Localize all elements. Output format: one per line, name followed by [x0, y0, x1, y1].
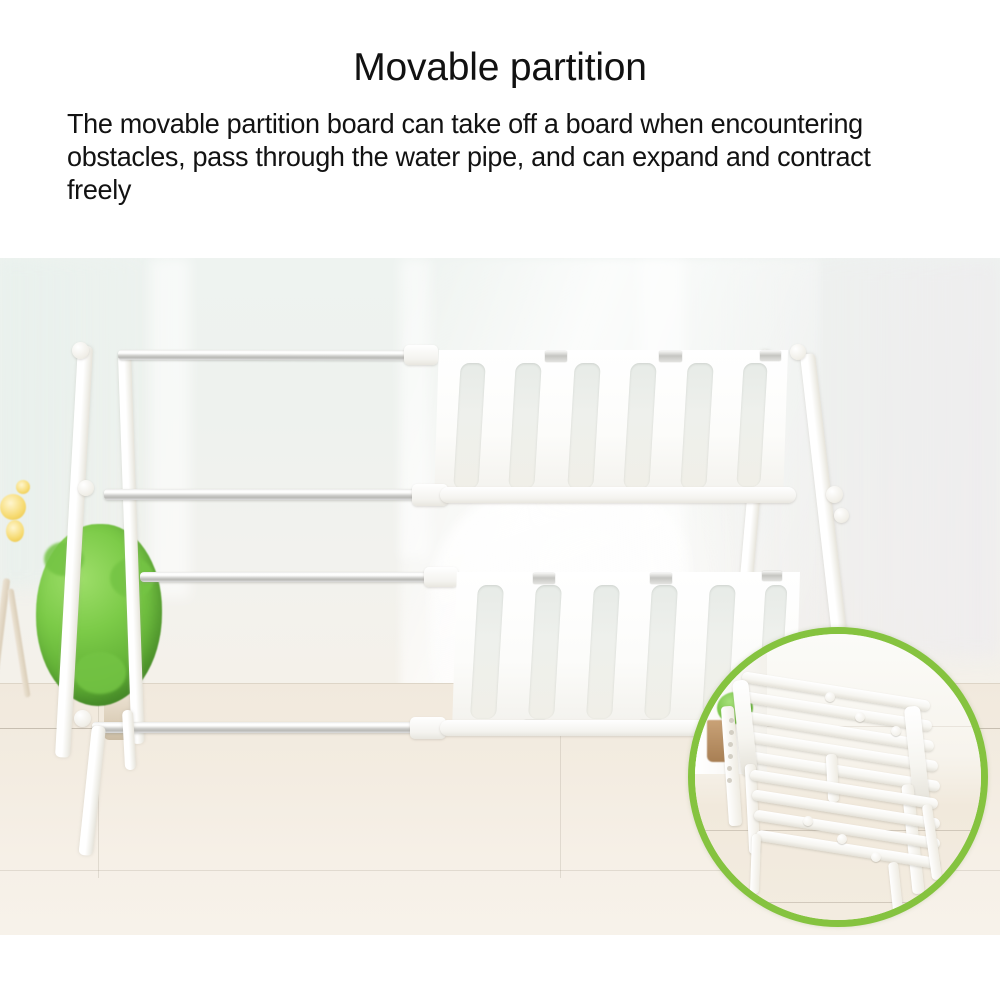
shelf-bottom-clip-r3 — [762, 571, 782, 581]
plant-tuft-3 — [74, 652, 126, 694]
product-photo — [0, 258, 1000, 935]
yellow-flower-3 — [16, 480, 30, 494]
inset-bottom-knob-3 — [871, 852, 881, 862]
inset-top-knob-2 — [855, 712, 865, 722]
yellow-flower-2 — [6, 520, 24, 542]
shelf-top-clip-r3 — [760, 351, 781, 361]
rod-sleeve-top-rear — [404, 345, 438, 365]
post-knob-right-top — [790, 344, 806, 360]
post-knob-right-mid — [826, 486, 843, 503]
shelf-bottom-clip-r2 — [650, 573, 672, 584]
inset-riser-hole-1 — [729, 718, 734, 723]
post-knob-left-top — [72, 342, 89, 359]
shelf-bottom-clip-r1 — [533, 573, 555, 584]
inset-riser-hole-2 — [729, 730, 734, 735]
post-knob-left-low — [74, 710, 91, 727]
description-text: The movable partition board can take off… — [67, 107, 916, 206]
rod-bottom-front — [92, 722, 414, 733]
shelf-top-clip-r1 — [545, 351, 567, 362]
inset-riser-hole-4 — [728, 754, 733, 759]
inset-riser-hole-6 — [727, 778, 732, 783]
shelf-top-front-lip — [440, 487, 796, 503]
rod-bottom-rear — [140, 572, 428, 582]
rod-sleeve-bottom-rear — [424, 567, 458, 587]
product-detail-inset — [688, 627, 988, 927]
rod-top-front — [104, 489, 416, 500]
post-knob-left-mid — [78, 480, 94, 496]
post-knob-right-mid2 — [834, 508, 849, 523]
product-marketing-image: Movable partition The movable partition … — [0, 0, 1000, 1000]
inset-top-knob-1 — [825, 692, 835, 702]
inset-top-knob-3 — [891, 726, 901, 736]
inset-floor-seam-2 — [695, 902, 988, 903]
inset-riser-hole-3 — [728, 742, 733, 747]
inset-bottom-knob-1 — [803, 816, 813, 826]
rod-top-rear — [118, 350, 408, 361]
text-panel: Movable partition The movable partition … — [0, 0, 1000, 258]
inset-bottom-knob-2 — [837, 834, 847, 844]
inset-riser-hole-5 — [727, 766, 732, 771]
wall-band-1 — [150, 258, 190, 598]
floor-seam-v2 — [560, 728, 561, 878]
page-title: Movable partition — [0, 47, 1000, 89]
yellow-flower-1 — [0, 494, 26, 520]
shelf-top-clip-r2 — [659, 351, 682, 362]
